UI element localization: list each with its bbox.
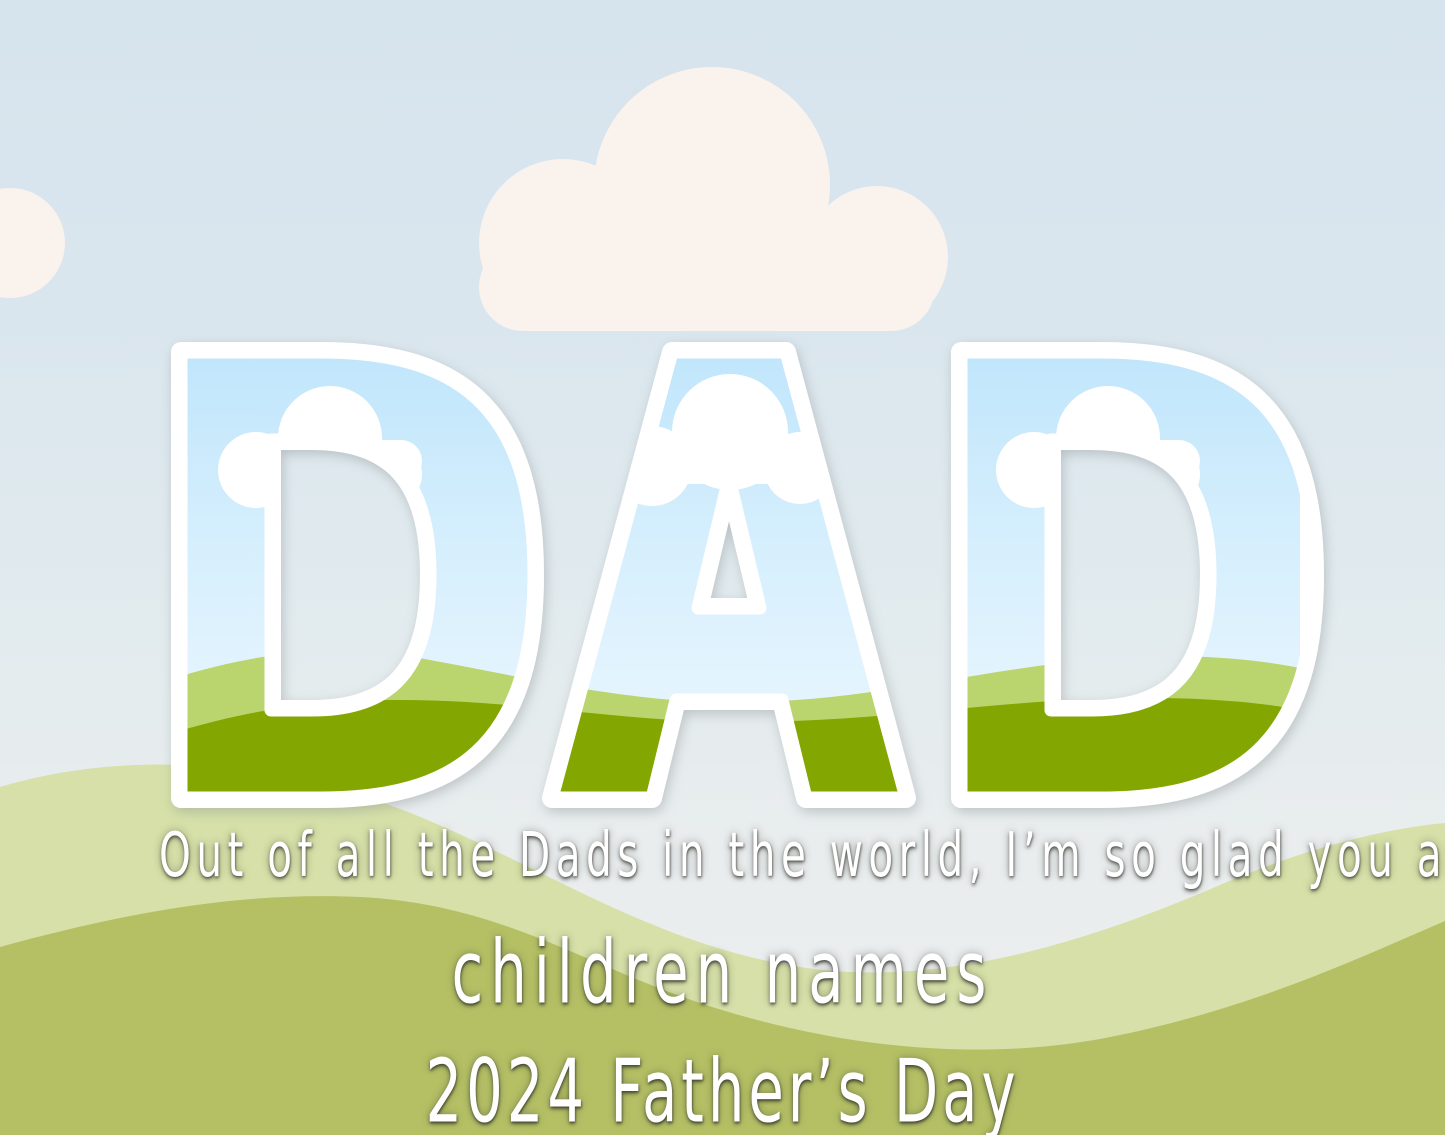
year-line-text: 2024 Father’s Day [159,1007,1286,1135]
fathers-day-card: Out of all the Dads in the world, I’m so… [0,0,1445,1135]
message-block: Out of all the Dads in the world, I’m so… [0,826,1445,1135]
